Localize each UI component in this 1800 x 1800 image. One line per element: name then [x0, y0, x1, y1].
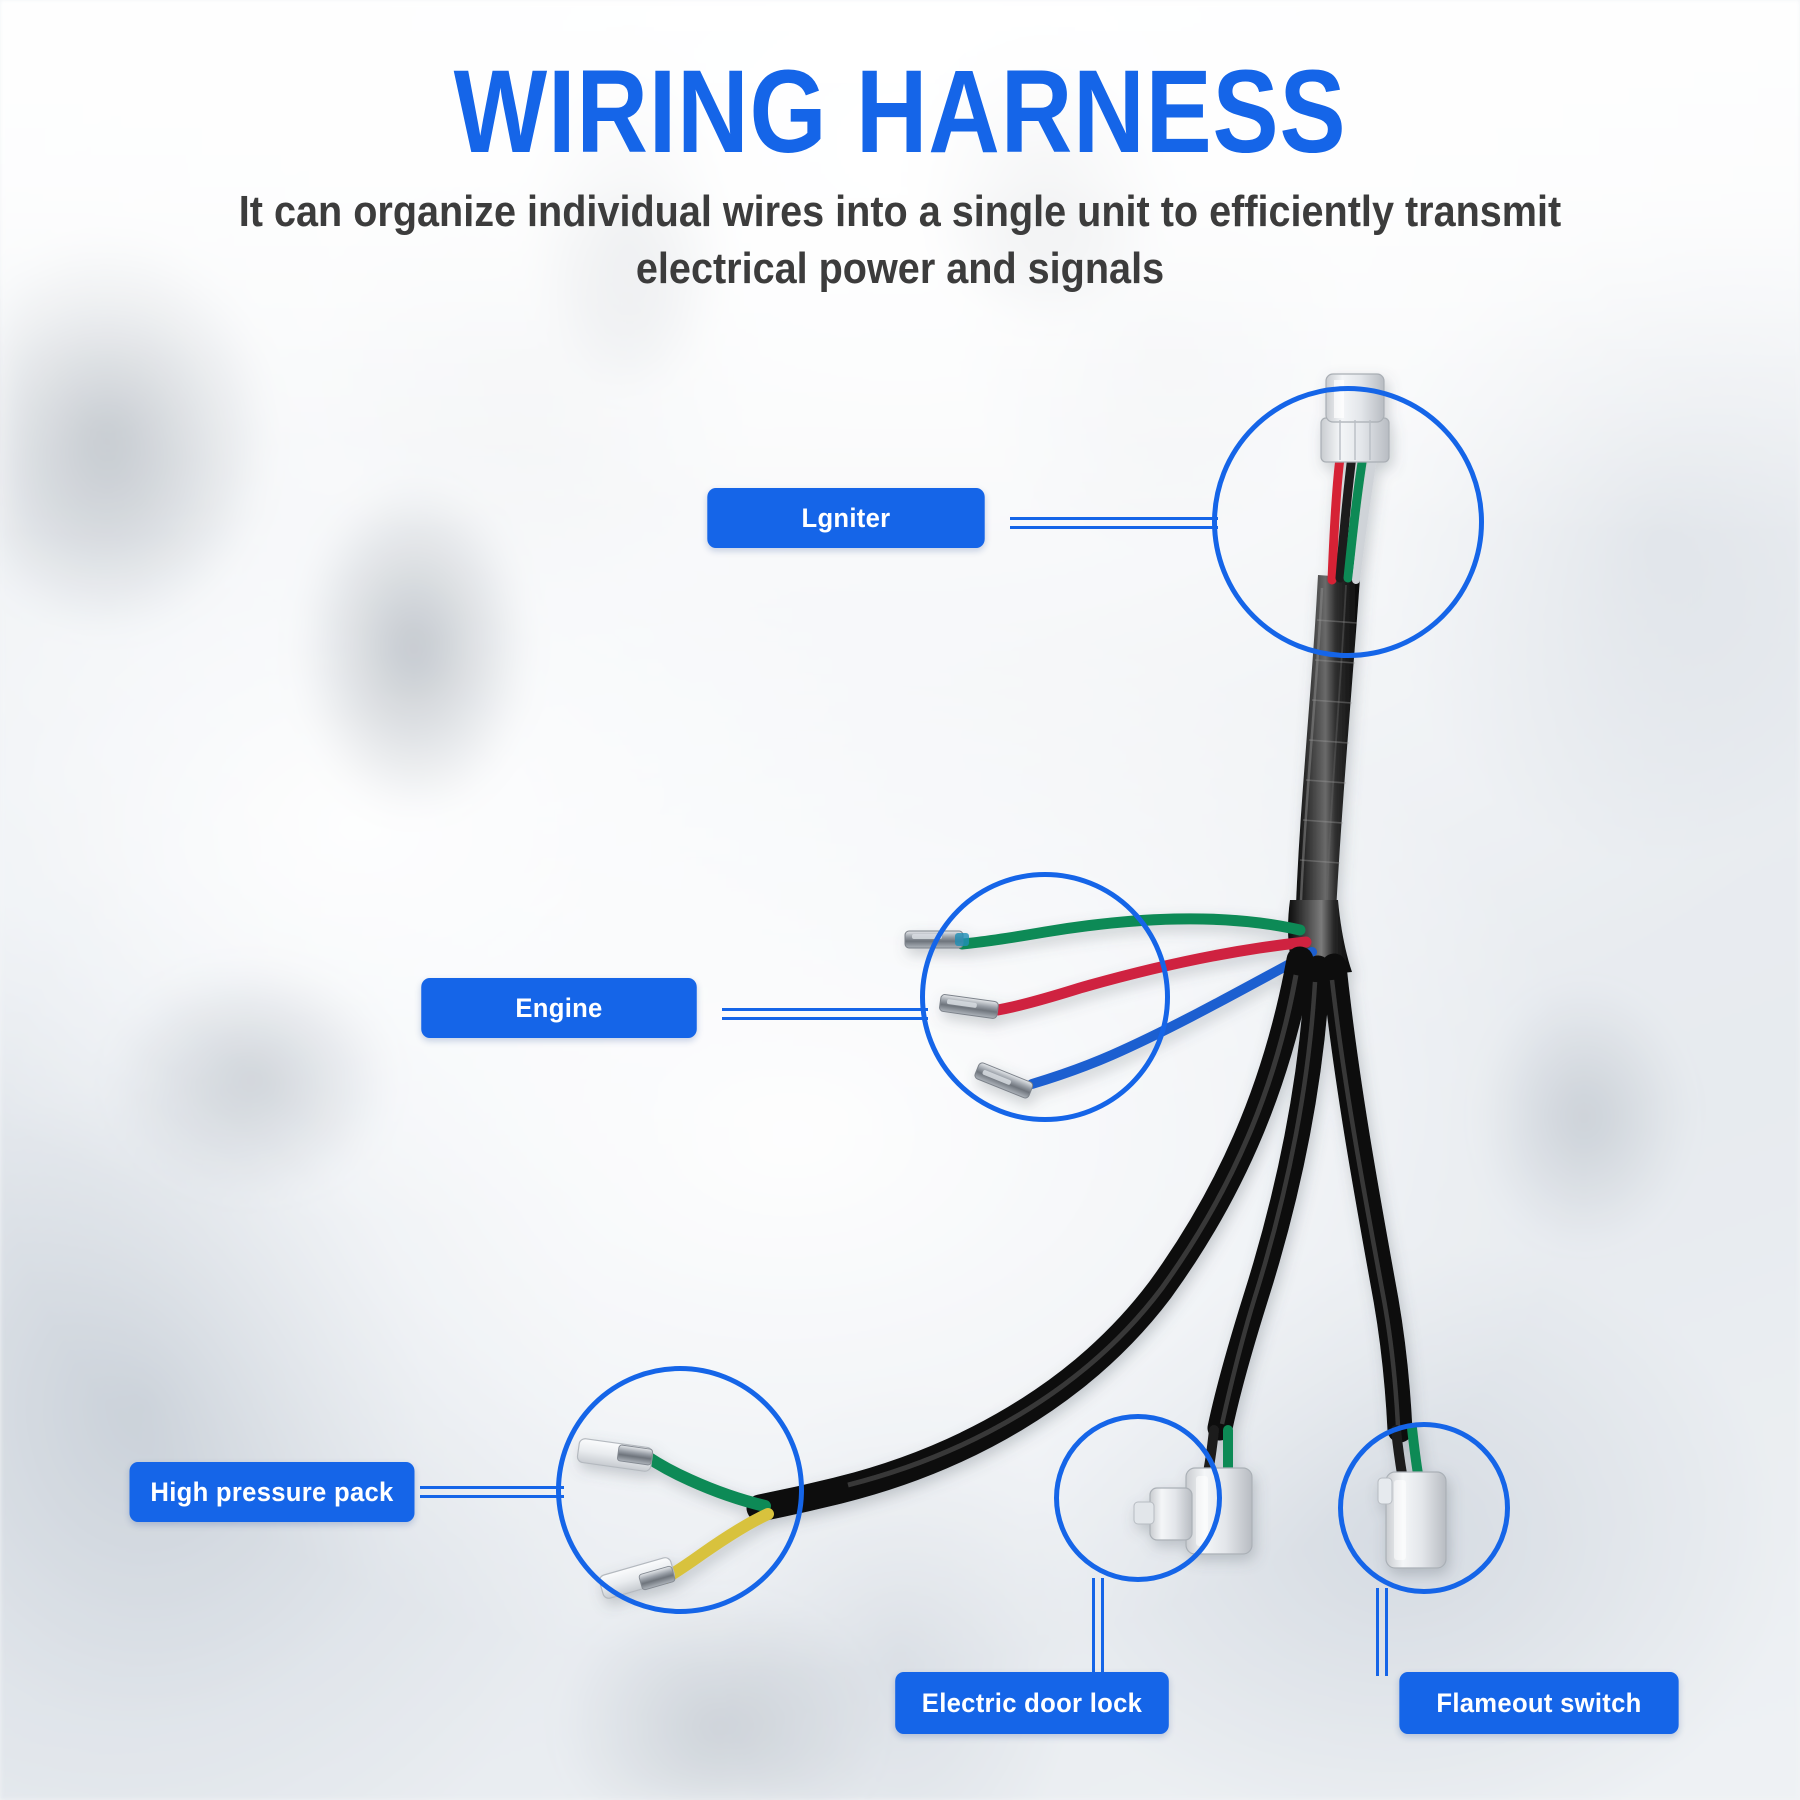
leader-line-high-pressure-pack — [420, 1486, 564, 1498]
label-chip-high-pressure-pack[interactable]: High pressure pack — [130, 1462, 415, 1522]
label-text-high-pressure-pack: High pressure pack — [150, 1477, 393, 1508]
label-chip-engine[interactable]: Engine — [421, 978, 697, 1038]
label-chip-flameout-switch[interactable]: Flameout switch — [1399, 1672, 1678, 1734]
label-text-electric-door-lock: Electric door lock — [922, 1688, 1142, 1719]
label-text-flameout-switch: Flameout switch — [1436, 1688, 1641, 1719]
label-chip-electric-door-lock[interactable]: Electric door lock — [895, 1672, 1169, 1734]
page-title: WIRING HARNESS — [144, 52, 1656, 172]
leader-line-igniter — [1010, 517, 1218, 529]
leader-line-flameout-switch — [1376, 1588, 1388, 1676]
page-subtitle: It can organize individual wires into a … — [225, 184, 1575, 297]
leader-line-electric-door-lock — [1092, 1578, 1104, 1676]
header: WIRING HARNESS It can organize individua… — [0, 0, 1800, 297]
label-chip-igniter[interactable]: Lgniter — [707, 488, 984, 548]
leader-line-engine — [722, 1008, 928, 1020]
label-text-igniter: Lgniter — [802, 503, 891, 534]
label-text-engine: Engine — [515, 993, 602, 1024]
